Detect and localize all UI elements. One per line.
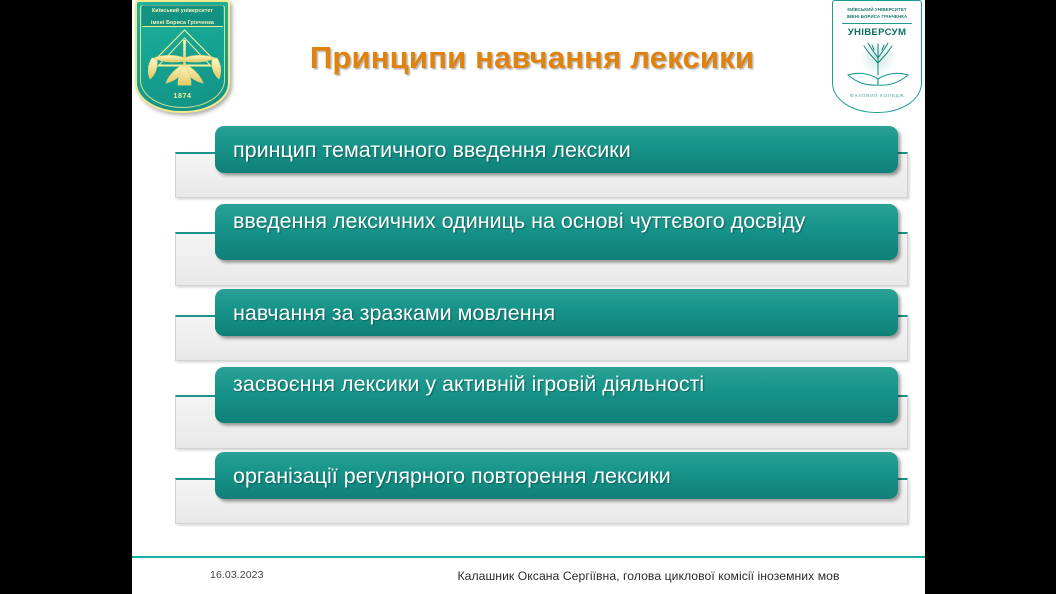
- list-item-pill[interactable]: засвоєння лексики у активній ігровій дія…: [215, 367, 898, 423]
- shield-shape-right: КИЇВСЬКИЙ УНІВЕРСИТЕТ ІМЕНІ БОРИСА ГРІНЧ…: [832, 0, 922, 113]
- emblem-divider: [842, 23, 912, 24]
- list-item-label: засвоєння лексики у активній ігровій дія…: [215, 367, 898, 399]
- list-item-label: навчання за зразками мовлення: [215, 298, 898, 328]
- emblem-wordmark: УНІВЕРСУМ: [833, 27, 921, 38]
- page-title: Принципи навчання лексики: [242, 40, 822, 76]
- list-item-pill[interactable]: навчання за зразками мовлення: [215, 289, 898, 336]
- open-book-icon: [144, 28, 225, 94]
- list-item[interactable]: засвоєння лексики у активній ігровій дія…: [132, 365, 925, 450]
- emblem-university-line-1: КИЇВСЬКИЙ УНІВЕРСИТЕТ: [837, 6, 917, 13]
- list-item[interactable]: введення лексичних одиниць на основі чут…: [132, 202, 925, 287]
- emblem-line-2: імені Бориса Грінченка: [142, 17, 223, 29]
- slide-canvas: Київський університет імені Бориса Грінч…: [132, 0, 925, 594]
- college-emblem-right: КИЇВСЬКИЙ УНІВЕРСИТЕТ ІМЕНІ БОРИСА ГРІНЧ…: [832, 0, 922, 113]
- emblem-university-name: КИЇВСЬКИЙ УНІВЕРСИТЕТ ІМЕНІ БОРИСА ГРІНЧ…: [837, 6, 917, 20]
- list-item[interactable]: навчання за зразками мовлення: [132, 287, 925, 365]
- emblem-subtitle: ФАХОВИЙ КОЛЕДЖ: [833, 93, 921, 98]
- emblem-founding-year: 1874: [137, 93, 228, 100]
- list-item-pill[interactable]: організації регулярного повторення лекси…: [215, 452, 898, 499]
- footer-author: Калашник Оксана Сергіївна, голова циклов…: [132, 569, 925, 583]
- list-item-pill[interactable]: принцип тематичного введення лексики: [215, 126, 898, 173]
- list-item[interactable]: принцип тематичного введення лексики: [132, 124, 925, 202]
- list-item-label: організації регулярного повторення лекси…: [215, 461, 898, 491]
- principles-list: принцип тематичного введення лексики вве…: [132, 124, 925, 528]
- presentation-viewport: Київський університет імені Бориса Грінч…: [0, 0, 1056, 594]
- list-item-pill[interactable]: введення лексичних одиниць на основі чут…: [215, 204, 898, 260]
- shield-caption-left: Київський університет імені Бориса Грінч…: [142, 5, 223, 27]
- shield-shape-left: Київський університет імені Бориса Грінч…: [135, 0, 230, 113]
- list-item[interactable]: організації регулярного повторення лекси…: [132, 450, 925, 528]
- tree-and-book-icon: [844, 39, 912, 95]
- emblem-university-line-2: ІМЕНІ БОРИСА ГРІНЧЕНКА: [837, 13, 917, 20]
- emblem-line-1: Київський університет: [142, 5, 223, 17]
- list-item-label: введення лексичних одиниць на основі чут…: [215, 204, 898, 236]
- university-emblem-left: Київський університет імені Бориса Грінч…: [135, 0, 230, 113]
- footer-divider: [132, 556, 925, 558]
- list-item-label: принцип тематичного введення лексики: [215, 135, 898, 165]
